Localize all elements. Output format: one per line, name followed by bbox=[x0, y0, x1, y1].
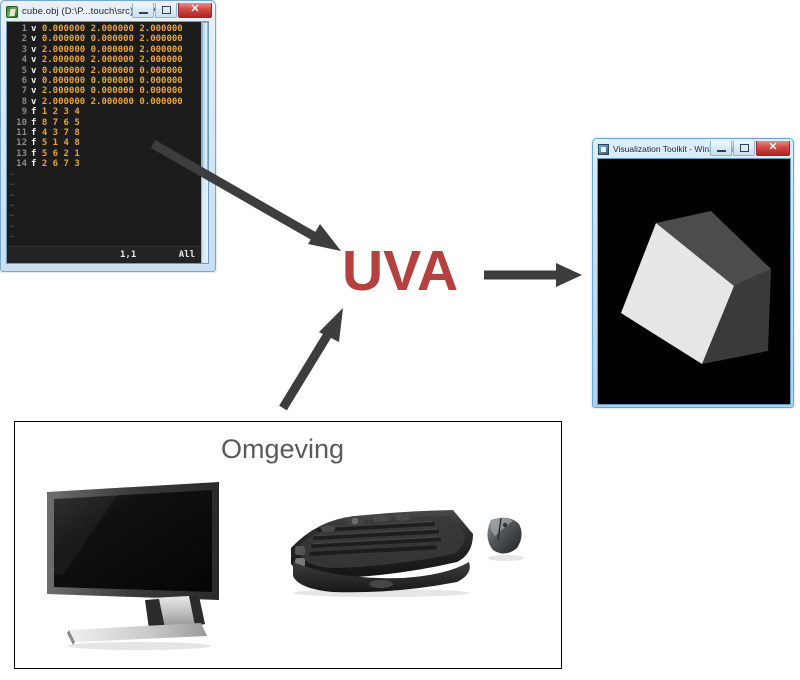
line-number: 12 bbox=[7, 138, 31, 148]
obj-keyword: f bbox=[31, 107, 42, 117]
close-button[interactable]: ✕ bbox=[178, 3, 212, 18]
code-line: 11f 4 3 7 8 bbox=[7, 128, 201, 138]
line-number: 9 bbox=[7, 107, 31, 117]
obj-keyword: v bbox=[31, 97, 42, 107]
obj-values: 2.000000 0.000000 0.000000 bbox=[42, 86, 183, 96]
obj-keyword: f bbox=[31, 128, 42, 138]
line-number: 13 bbox=[7, 149, 31, 159]
code-line: 1v 0.000000 2.000000 2.000000 bbox=[7, 24, 201, 34]
line-number: 14 bbox=[7, 159, 31, 169]
code-line: 6v 0.000000 0.000000 0.000000 bbox=[7, 76, 201, 86]
obj-values: 4 3 7 8 bbox=[42, 128, 80, 138]
obj-keyword: v bbox=[31, 24, 42, 34]
obj-values: 0.000000 0.000000 2.000000 bbox=[42, 34, 183, 44]
maximize-button[interactable] bbox=[155, 3, 177, 18]
code-line: 4v 2.000000 2.000000 2.000000 bbox=[7, 55, 201, 65]
gvim-titlebar[interactable]: cube.obj (D:\P...touch\src) - GVIM ✕ bbox=[3, 3, 213, 20]
code-line: 3v 2.000000 0.000000 2.000000 bbox=[7, 45, 201, 55]
line-number: 7 bbox=[7, 86, 31, 96]
obj-values: 0.000000 2.000000 2.000000 bbox=[42, 24, 183, 34]
obj-values: 0.000000 2.000000 0.000000 bbox=[42, 66, 183, 76]
obj-values: 2.000000 2.000000 0.000000 bbox=[42, 97, 183, 107]
obj-keyword: v bbox=[31, 66, 42, 76]
arrow-omgeving-to-uva bbox=[275, 300, 355, 415]
line-number: 3 bbox=[7, 45, 31, 55]
omgeving-panel: Omgeving bbox=[14, 421, 562, 669]
obj-values: 5 1 4 8 bbox=[42, 138, 80, 148]
line-number: 4 bbox=[7, 55, 31, 65]
vtk-window-controls: ✕ bbox=[710, 141, 790, 156]
code-line: 8v 2.000000 2.000000 0.000000 bbox=[7, 97, 201, 107]
code-line: 5v 0.000000 2.000000 0.000000 bbox=[7, 66, 201, 76]
line-number: 6 bbox=[7, 76, 31, 86]
obj-keyword: v bbox=[31, 55, 42, 65]
keyboard-image bbox=[277, 492, 527, 597]
line-number: 2 bbox=[7, 34, 31, 44]
obj-values: 2 6 7 3 bbox=[42, 159, 80, 169]
minimize-button[interactable] bbox=[710, 141, 732, 156]
uva-center-label: UVA bbox=[342, 243, 458, 300]
obj-keyword: v bbox=[31, 45, 42, 55]
obj-keyword: v bbox=[31, 76, 42, 86]
monitor-image bbox=[39, 480, 229, 650]
line-number: 1 bbox=[7, 24, 31, 34]
vtk-render-canvas[interactable] bbox=[597, 158, 791, 405]
code-line: 10f 8 7 6 5 bbox=[7, 118, 201, 128]
obj-values: 2.000000 2.000000 2.000000 bbox=[42, 55, 183, 65]
obj-values: 8 7 6 5 bbox=[42, 118, 80, 128]
line-number: 5 bbox=[7, 66, 31, 76]
obj-keyword: f bbox=[31, 159, 42, 169]
cursor-position: 1,1 bbox=[120, 250, 136, 260]
obj-values: 2.000000 0.000000 2.000000 bbox=[42, 45, 183, 55]
obj-keyword: v bbox=[31, 86, 42, 96]
gvim-app-icon bbox=[6, 6, 18, 18]
gvim-window-controls: ✕ bbox=[132, 3, 212, 18]
omgeving-title: Omgeving bbox=[221, 434, 344, 465]
obj-keyword: f bbox=[31, 149, 42, 159]
line-number: 11 bbox=[7, 128, 31, 138]
code-line: 7v 2.000000 0.000000 0.000000 bbox=[7, 86, 201, 96]
code-line: 9f 1 2 3 4 bbox=[7, 107, 201, 117]
maximize-button[interactable] bbox=[733, 141, 755, 156]
obj-values: 0.000000 0.000000 0.000000 bbox=[42, 76, 183, 86]
minimize-button[interactable] bbox=[132, 3, 154, 18]
line-number: 8 bbox=[7, 97, 31, 107]
vtk-titlebar[interactable]: Visualization Toolkit - Win32Open... ✕ bbox=[595, 141, 791, 157]
line-number: 10 bbox=[7, 118, 31, 128]
arrow-gvim-to-uva bbox=[148, 138, 353, 263]
vtk-app-icon bbox=[598, 144, 609, 155]
obj-keyword: f bbox=[31, 138, 42, 148]
cube-3d-object bbox=[616, 201, 776, 366]
arrow-uva-to-vtk bbox=[482, 258, 588, 292]
obj-keyword: f bbox=[31, 118, 42, 128]
obj-keyword: v bbox=[31, 34, 42, 44]
close-button[interactable]: ✕ bbox=[756, 141, 790, 156]
vtk-window[interactable]: Visualization Toolkit - Win32Open... ✕ bbox=[592, 138, 794, 408]
obj-values: 1 2 3 4 bbox=[42, 107, 80, 117]
code-line: 2v 0.000000 0.000000 2.000000 bbox=[7, 34, 201, 44]
obj-values: 5 6 2 1 bbox=[42, 149, 80, 159]
